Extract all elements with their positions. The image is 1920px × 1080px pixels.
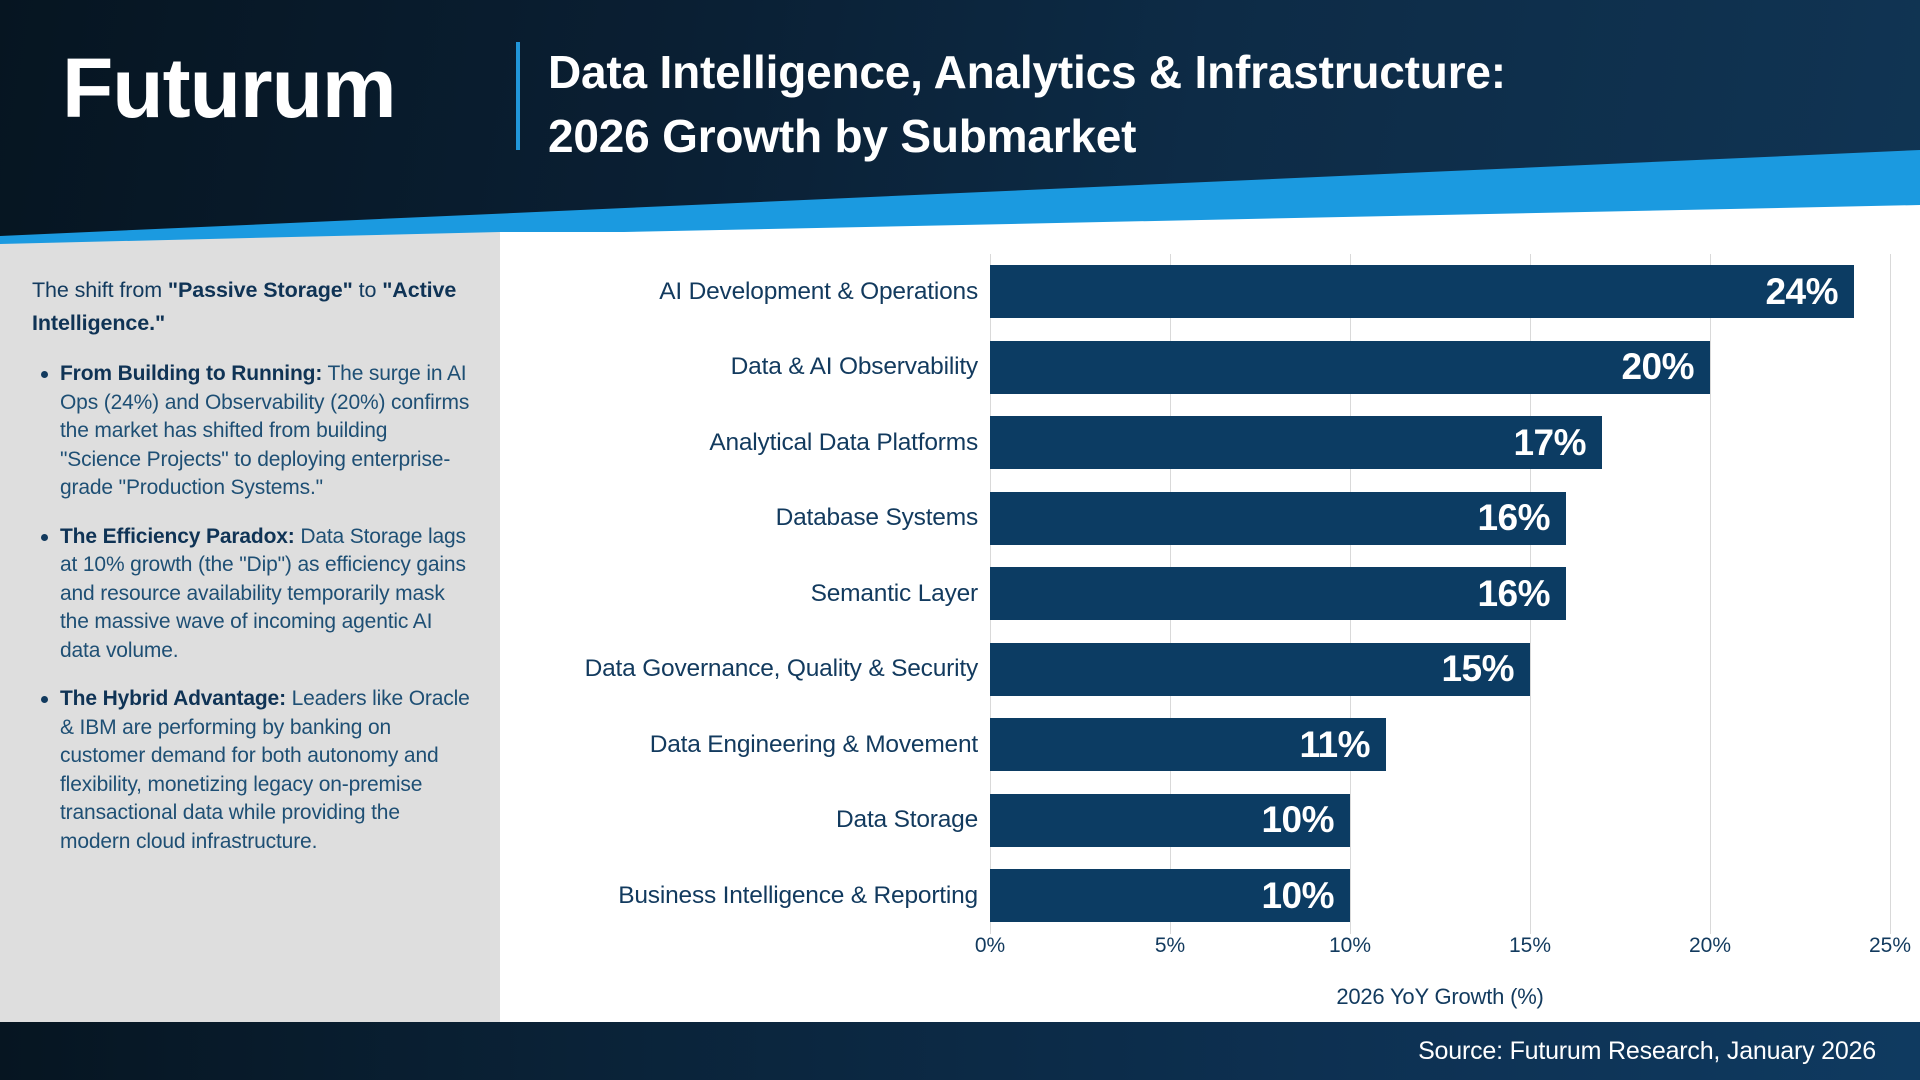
x-tick-label: 20%: [1689, 934, 1731, 958]
bar[interactable]: 24%: [990, 265, 1854, 318]
x-tick-label: 5%: [1155, 934, 1185, 958]
bar-row[interactable]: AI Development & Operations24%: [990, 254, 1890, 330]
infographic-slide: Futurum Data Intelligence, Analytics & I…: [0, 0, 1920, 1080]
bar[interactable]: 20%: [990, 341, 1710, 394]
source-note: Source: Futurum Research, January 2026: [1418, 1037, 1876, 1066]
sidebar-lede-bold-1: "Passive Storage": [168, 278, 353, 302]
bar-row[interactable]: Database Systems16%: [990, 481, 1890, 557]
bar-category-label: Business Intelligence & Reporting: [618, 882, 978, 910]
bar-value-label: 24%: [1765, 271, 1854, 313]
sidebar-lede-prefix: The shift from: [32, 278, 168, 302]
bar[interactable]: 16%: [990, 567, 1566, 620]
list-item: The Efficiency Paradox: Data Storage lag…: [32, 523, 470, 666]
insights-sidebar: The shift from "Passive Storage" to "Act…: [0, 232, 500, 1022]
x-tick-label: 10%: [1329, 934, 1371, 958]
bar-category-label: AI Development & Operations: [659, 278, 978, 306]
list-item: The Hybrid Advantage: Leaders like Oracl…: [32, 685, 470, 856]
bar[interactable]: 17%: [990, 416, 1602, 469]
bar[interactable]: 16%: [990, 492, 1566, 545]
bar-category-label: Data Engineering & Movement: [650, 731, 978, 759]
sidebar-lede-middle: to: [353, 278, 382, 302]
bar-value-label: 10%: [1261, 875, 1350, 917]
page-title-line-1: Data Intelligence, Analytics & Infrastru…: [548, 40, 1868, 104]
bar-row[interactable]: Analytical Data Platforms17%: [990, 405, 1890, 481]
bar[interactable]: 10%: [990, 794, 1350, 847]
bar-category-label: Semantic Layer: [811, 580, 978, 608]
page-title: Data Intelligence, Analytics & Infrastru…: [548, 40, 1868, 168]
bar-value-label: 17%: [1513, 422, 1602, 464]
gridline-25%: [1890, 254, 1891, 934]
brand-divider: [516, 42, 520, 150]
x-tick-label: 25%: [1869, 934, 1911, 958]
bullet-body: Leaders like Oracle & IBM are performing…: [60, 687, 470, 853]
bar-value-label: 10%: [1261, 799, 1350, 841]
bar-row[interactable]: Semantic Layer16%: [990, 556, 1890, 632]
sidebar-bullet-list: From Building to Running: The surge in A…: [32, 360, 470, 856]
bar-row[interactable]: Data Engineering & Movement11%: [990, 707, 1890, 783]
bullet-lead: The Hybrid Advantage:: [60, 687, 286, 710]
bar-row[interactable]: Data & AI Observability20%: [990, 330, 1890, 406]
bar[interactable]: 15%: [990, 643, 1530, 696]
plot-area: AI Development & Operations24%Data & AI …: [990, 254, 1890, 934]
bar-row[interactable]: Business Intelligence & Reporting10%: [990, 858, 1890, 934]
x-axis-label: 2026 YoY Growth (%): [990, 984, 1890, 1010]
x-tick-label: 0%: [975, 934, 1005, 958]
bar-value-label: 16%: [1477, 573, 1566, 615]
bar-category-label: Analytical Data Platforms: [709, 429, 978, 457]
bar-value-label: 16%: [1477, 497, 1566, 539]
bar-value-label: 11%: [1299, 724, 1386, 766]
brand-logo: Futurum: [62, 40, 396, 136]
header: Futurum Data Intelligence, Analytics & I…: [0, 0, 1920, 245]
bar-value-label: 20%: [1621, 346, 1710, 388]
bar-category-label: Data Governance, Quality & Security: [585, 655, 978, 683]
bar[interactable]: 10%: [990, 869, 1350, 922]
bar-rows: AI Development & Operations24%Data & AI …: [990, 254, 1890, 934]
footer: Source: Futurum Research, January 2026: [0, 1022, 1920, 1080]
bar-category-label: Data & AI Observability: [731, 353, 978, 381]
list-item: From Building to Running: The surge in A…: [32, 360, 470, 503]
bullet-lead: From Building to Running:: [60, 362, 322, 385]
bar-category-label: Database Systems: [776, 504, 978, 532]
bullet-lead: The Efficiency Paradox:: [60, 525, 295, 548]
page-title-line-2: 2026 Growth by Submarket: [548, 104, 1868, 168]
x-tick-label: 15%: [1509, 934, 1551, 958]
bar[interactable]: 11%: [990, 718, 1386, 771]
bar-chart: AI Development & Operations24%Data & AI …: [500, 232, 1920, 1022]
bar-value-label: 15%: [1441, 648, 1530, 690]
bar-row[interactable]: Data Storage10%: [990, 783, 1890, 859]
bar-category-label: Data Storage: [836, 806, 978, 834]
x-axis-ticks: 0%5%10%15%20%25%: [990, 934, 1890, 974]
bar-row[interactable]: Data Governance, Quality & Security15%: [990, 632, 1890, 708]
sidebar-lede: The shift from "Passive Storage" to "Act…: [32, 274, 470, 340]
